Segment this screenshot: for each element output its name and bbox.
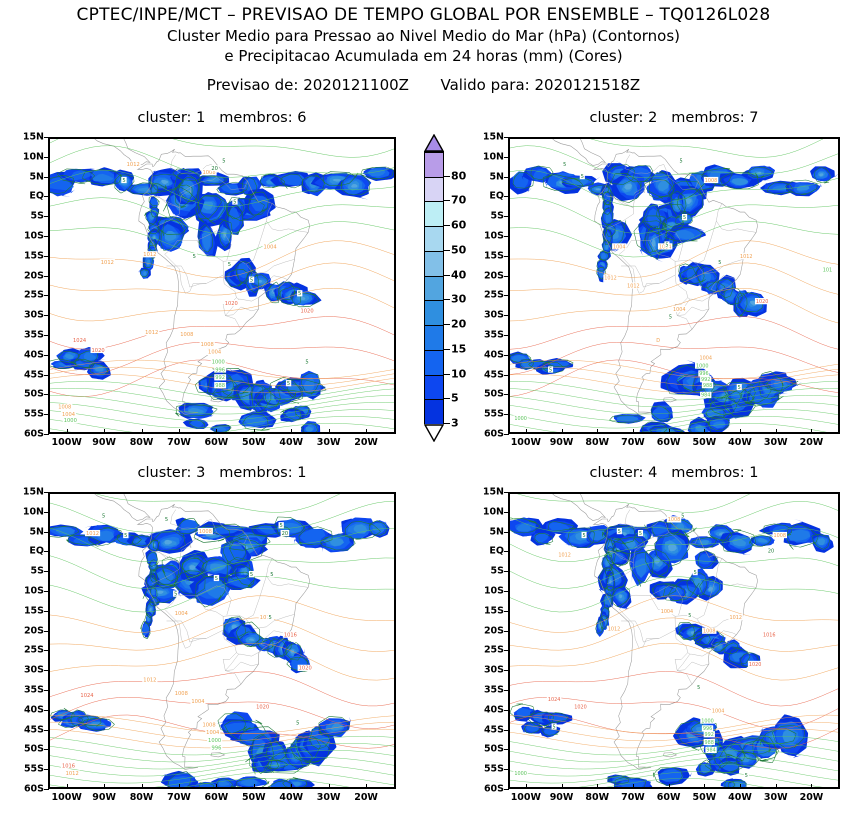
y-axis-tick [44, 355, 49, 356]
precip-label: 5 [122, 178, 125, 184]
precip-label: 5 [549, 367, 552, 373]
y-axis-tick [44, 375, 49, 376]
y-axis-label: 5S [460, 566, 504, 577]
x-axis-label: 70W [167, 437, 191, 448]
precip-label: 5 [665, 242, 668, 248]
y-axis-label: 10S [0, 231, 44, 242]
precip-label: 5 [270, 572, 273, 578]
y-axis-tick [44, 670, 49, 671]
y-axis-tick [44, 650, 49, 651]
y-axis-tick [504, 335, 509, 336]
mslp-label: 1020 [756, 299, 769, 305]
y-axis-tick [504, 196, 509, 197]
y-axis-tick [44, 256, 49, 257]
y-axis-label: EQ [0, 191, 44, 202]
x-axis-label: 100W [511, 792, 541, 803]
x-axis-tick [526, 429, 527, 434]
mslp-label: 1004 [175, 611, 189, 617]
colorbar-cell [424, 177, 444, 202]
y-axis-label: 15N [0, 487, 44, 498]
members-label: membros: [671, 110, 744, 126]
mslp-label: 1016 [284, 632, 298, 638]
mslp-label: 1020 [574, 705, 587, 711]
x-axis-tick [633, 784, 634, 789]
colorbar-tick-label: 5 [451, 392, 459, 405]
x-axis-tick [291, 784, 292, 789]
y-axis-tick [504, 375, 509, 376]
x-axis-label: 100W [511, 437, 541, 448]
cluster-label: cluster: [138, 110, 192, 126]
y-axis-tick [504, 177, 509, 178]
mslp-label: 1008 [705, 178, 718, 184]
colorbar-tick-label: 3 [451, 417, 459, 430]
mslp-label: 996 [212, 746, 222, 752]
x-axis-tick [704, 784, 705, 789]
colorbar-tick [444, 176, 450, 177]
y-axis-tick [44, 414, 49, 415]
mslp-label: 1020 [256, 705, 270, 711]
colorbar-cell [424, 226, 444, 251]
y-axis-tick [504, 769, 509, 770]
y-axis-tick [44, 730, 49, 731]
y-axis-label: 60S [460, 784, 504, 795]
y-axis-label: 60S [0, 429, 44, 440]
members-number: 1 [749, 465, 758, 481]
y-axis-tick [44, 295, 49, 296]
x-axis-label: 90W [550, 437, 574, 448]
mslp-label: 1020 [301, 309, 315, 315]
y-axis-label: 45S [0, 724, 44, 735]
mslp-label: 1008 [203, 722, 217, 728]
x-axis-tick [216, 784, 217, 789]
mslp-label: 1008 [180, 332, 194, 338]
colorbar-tick [444, 349, 450, 350]
y-axis-label: 20S [0, 625, 44, 636]
cluster-label: cluster: [590, 110, 644, 126]
x-axis-label: 20W [354, 437, 378, 448]
mslp-label: 1012 [66, 771, 79, 777]
colorbar-extend-low [424, 424, 444, 442]
y-axis-label: 25S [0, 290, 44, 301]
y-axis-tick [44, 512, 49, 513]
x-axis-tick [811, 429, 812, 434]
mslp-label: 988 [703, 383, 712, 389]
panel-cluster-1: cluster: 1membros: 610121008100410121012… [0, 110, 396, 460]
x-axis-label: 60W [205, 792, 229, 803]
y-axis-tick [44, 276, 49, 277]
y-axis-tick [504, 551, 509, 552]
x-axis-label: 90W [92, 792, 116, 803]
x-axis-tick [704, 429, 705, 434]
y-axis-tick [504, 710, 509, 711]
members-label: membros: [671, 465, 744, 481]
y-axis-tick [44, 315, 49, 316]
x-axis-tick [216, 429, 217, 434]
y-axis-label: 5N [0, 526, 44, 537]
members-number: 1 [297, 465, 306, 481]
precip-label: 5 [228, 262, 231, 268]
y-axis-tick [504, 730, 509, 731]
precip-label: 5 [738, 385, 741, 391]
x-axis-tick [526, 784, 527, 789]
y-axis-tick [504, 650, 509, 651]
y-axis-label: 15S [460, 605, 504, 616]
mslp-label: 1004 [264, 244, 278, 250]
x-axis-label: 100W [52, 437, 82, 448]
x-axis-tick [67, 429, 68, 434]
precip-label: 5 [268, 615, 271, 621]
mslp-label: 988 [215, 383, 225, 389]
x-axis-label: 100W [52, 792, 82, 803]
x-axis-label: 50W [692, 437, 716, 448]
y-axis-tick [504, 670, 509, 671]
y-axis-label: 40S [460, 704, 504, 715]
colorbar-cell [424, 399, 444, 424]
mslp-label: 1020 [225, 301, 239, 307]
colorbar-cell [424, 201, 444, 226]
precip-label: 5 [618, 529, 621, 535]
x-axis-tick [776, 429, 777, 434]
mslp-label: 1012 [627, 283, 640, 289]
y-axis-tick [504, 355, 509, 356]
mslp-label: 1000 [701, 718, 714, 724]
y-axis-label: 15N [0, 132, 44, 143]
x-axis-label: 30W [317, 792, 341, 803]
mslp-label: 101 [823, 267, 832, 273]
x-axis-tick [142, 429, 143, 434]
cluster-label: cluster: [138, 465, 192, 481]
cluster-label: cluster: [590, 465, 644, 481]
precip-label: 20 [282, 531, 289, 537]
y-axis-tick [504, 690, 509, 691]
x-axis-tick [179, 429, 180, 434]
y-axis-label: EQ [460, 546, 504, 557]
x-axis-tick [562, 784, 563, 789]
precip-label: 5 [193, 254, 196, 260]
x-axis-tick [366, 429, 367, 434]
panel-title-1: cluster: 1membros: 6 [48, 110, 396, 126]
cluster-number: 1 [196, 110, 205, 126]
x-axis-tick [366, 784, 367, 789]
colorbar-cell [424, 350, 444, 375]
x-axis-label: 40W [279, 792, 303, 803]
y-axis-label: 20S [0, 270, 44, 281]
y-axis-label: 50S [0, 389, 44, 400]
mslp-label: 1004 [661, 609, 674, 615]
x-axis-label: 30W [764, 437, 788, 448]
mslp-label: 1012 [143, 252, 156, 258]
colorbar-tick-label: 60 [451, 219, 466, 232]
precip-label: 5 [250, 572, 253, 578]
precip-label: 5 [683, 215, 686, 221]
mslp-label: 1000 [514, 416, 527, 422]
colorbar-cell [424, 300, 444, 325]
y-axis-label: 5S [0, 211, 44, 222]
precip-label: 5 [718, 260, 721, 266]
x-axis-tick [597, 429, 598, 434]
y-axis-label: 50S [0, 744, 44, 755]
colorbar-cell [424, 375, 444, 400]
precip-label: 5 [745, 773, 748, 779]
mslp-label: 1008 [668, 517, 681, 523]
map-plot-area-1[interactable]: 1012100810041012101210201024101210081008… [48, 137, 396, 434]
y-axis-tick [44, 631, 49, 632]
mslp-label: 1016 [763, 632, 776, 638]
y-axis-label: 30S [0, 310, 44, 321]
precip-label: 5 [679, 158, 682, 164]
x-axis-label: 60W [657, 792, 681, 803]
x-axis-tick [740, 784, 741, 789]
map-plot-area-3[interactable]: 1012100810041012101610201024101210081004… [48, 492, 396, 789]
colorbar-extend-high [424, 134, 444, 152]
mslp-label: 1004 [206, 730, 220, 736]
y-axis-tick [504, 789, 509, 790]
mslp-label: 1004 [712, 708, 725, 714]
y-axis-tick [44, 591, 49, 592]
precip-label: 5 [688, 613, 691, 619]
y-axis-tick [504, 216, 509, 217]
mslp-label: 984 [706, 748, 716, 754]
y-axis-tick [504, 571, 509, 572]
precip-label: 5 [582, 533, 585, 539]
mslp-label: D [656, 338, 660, 344]
panel-cluster-4: cluster: 4membros: 110081008101210041012… [460, 465, 840, 815]
colorbar-tick [444, 299, 450, 300]
y-axis-tick [44, 177, 49, 178]
mslp-label: 992 [215, 375, 225, 381]
y-axis-tick [504, 749, 509, 750]
precip-label: 5 [553, 724, 556, 730]
x-axis-label: 20W [354, 792, 378, 803]
mslp-label: 1000 [212, 359, 226, 365]
y-axis-label: 5N [0, 171, 44, 182]
mslp-label: 1000 [696, 363, 709, 369]
x-axis-label: 90W [92, 437, 116, 448]
y-axis-label: 35S [0, 330, 44, 341]
mslp-label: 1024 [80, 693, 94, 699]
y-axis-tick [44, 216, 49, 217]
y-axis-tick [44, 434, 49, 435]
y-axis-label: 55S [0, 764, 44, 775]
colorbar-cell [424, 276, 444, 301]
precip-label: 5 [681, 513, 684, 519]
y-axis-tick [44, 749, 49, 750]
colorbar-tick [444, 250, 450, 251]
y-axis-tick [44, 137, 49, 138]
x-axis-tick [597, 784, 598, 789]
precip-label: 20 [768, 548, 774, 554]
precip-label: 5 [233, 199, 236, 205]
precip-label: 5 [222, 158, 225, 164]
mslp-label: 1004 [673, 307, 686, 313]
precip-label: 5 [174, 591, 177, 597]
mslp-label: 996 [215, 367, 225, 373]
y-axis-label: 5N [460, 526, 504, 537]
y-axis-tick [504, 492, 509, 493]
members-number: 6 [297, 110, 306, 126]
panel-cluster-2: cluster: 2membros: 710081004100410121012… [460, 110, 840, 460]
members-number: 7 [749, 110, 758, 126]
y-axis-tick [504, 611, 509, 612]
y-axis-tick [44, 690, 49, 691]
y-axis-label: 10N [0, 151, 44, 162]
mslp-label: 1008 [58, 404, 72, 410]
x-axis-label: 40W [728, 437, 752, 448]
x-axis-label: 50W [692, 792, 716, 803]
precip-label: 5 [102, 513, 105, 519]
y-axis-label: 35S [0, 685, 44, 696]
mslp-label: 1012 [145, 330, 158, 336]
y-axis-label: 55S [460, 764, 504, 775]
mslp-label: 1020 [749, 662, 762, 668]
colorbar-tick [444, 374, 450, 375]
colorbar: 35101520304050607080 [424, 134, 484, 442]
y-axis-label: 45S [0, 369, 44, 380]
mslp-label: 1024 [73, 338, 87, 344]
y-axis-tick [504, 394, 509, 395]
precip-label: 5 [697, 685, 700, 691]
colorbar-tick [444, 324, 450, 325]
y-axis-tick [504, 414, 509, 415]
mslp-label: 1016 [62, 763, 76, 769]
precip-label: 5 [250, 277, 253, 283]
x-axis-label: 60W [205, 437, 229, 448]
mslp-label: 1004 [208, 350, 222, 356]
x-axis-tick [104, 429, 105, 434]
mslp-label: 1008 [199, 529, 213, 535]
mslp-label: 1008 [175, 691, 189, 697]
y-axis-label: 5S [0, 566, 44, 577]
y-axis-label: 15N [460, 487, 504, 498]
y-axis-label: 45S [460, 724, 504, 735]
precip-label: 5 [669, 314, 672, 320]
x-axis-tick [142, 784, 143, 789]
y-axis-tick [504, 315, 509, 316]
x-axis-tick [740, 429, 741, 434]
colorbar-cell [424, 152, 444, 177]
y-axis-label: 30S [0, 665, 44, 676]
y-axis-tick [44, 571, 49, 572]
precip-label: 5 [296, 720, 299, 726]
y-axis-tick [44, 394, 49, 395]
y-axis-tick [504, 157, 509, 158]
members-label: membros: [219, 465, 292, 481]
mslp-label: 1008 [201, 342, 215, 348]
mslp-label: 1004 [191, 699, 205, 705]
y-axis-label: 40S [0, 704, 44, 715]
x-axis-label: 80W [585, 437, 609, 448]
mslp-label: 1012 [127, 162, 140, 168]
colorbar-tick-label: 10 [451, 367, 466, 380]
precip-label: 5 [563, 162, 566, 168]
x-axis-tick [104, 784, 105, 789]
x-axis-tick [776, 784, 777, 789]
y-axis-tick [504, 532, 509, 533]
precip-label: 5 [215, 576, 218, 582]
mslp-label: 1012 [558, 552, 571, 558]
y-axis-tick [44, 710, 49, 711]
x-axis-label: 50W [242, 792, 266, 803]
y-axis-tick [504, 631, 509, 632]
x-axis-tick [669, 784, 670, 789]
colorbar-divider [424, 151, 444, 153]
x-axis-tick [291, 429, 292, 434]
y-axis-label: 25S [460, 645, 504, 656]
colorbar-tick [444, 398, 450, 399]
cluster-number: 4 [648, 465, 657, 481]
map-plot-area-4[interactable]: 1008100810121004101210121008101610201024… [508, 492, 840, 789]
y-axis-tick [44, 196, 49, 197]
y-axis-tick [44, 789, 49, 790]
x-axis-label: 20W [800, 437, 824, 448]
mslp-label: 1012 [101, 260, 114, 266]
x-axis-tick [562, 429, 563, 434]
mslp-label: 1008 [703, 628, 716, 634]
mslp-label: 1020 [299, 666, 313, 672]
mslp-label: 1000 [208, 738, 222, 744]
colorbar-cell [424, 325, 444, 350]
colorbar-tick-label: 15 [451, 342, 466, 355]
x-axis-label: 80W [130, 792, 154, 803]
y-axis-tick [44, 769, 49, 770]
precip-label: 5 [280, 523, 283, 529]
mslp-label: 988 [705, 740, 714, 746]
mslp-label: 1012 [729, 615, 742, 621]
panel-title-4: cluster: 4membros: 1 [508, 465, 840, 481]
members-label: membros: [219, 110, 292, 126]
y-axis-label: 10N [460, 506, 504, 517]
map-plot-area-2[interactable]: 1008100410041012101210110121020100410041… [508, 137, 840, 434]
colorbar-cell [424, 251, 444, 276]
colorbar-tick-label: 40 [451, 268, 466, 281]
y-axis-tick [504, 276, 509, 277]
y-axis-tick [504, 236, 509, 237]
y-axis-label: 20S [460, 625, 504, 636]
x-axis-label: 70W [621, 792, 645, 803]
precip-label: 5 [639, 531, 642, 537]
y-axis-tick [504, 295, 509, 296]
x-axis-tick [179, 784, 180, 789]
y-axis-tick [44, 492, 49, 493]
mslp-label: 1008 [774, 533, 787, 539]
mslp-label: 1024 [548, 697, 561, 703]
colorbar-tick-label: 20 [451, 318, 466, 331]
figure-panels: cluster: 1membros: 610121008100410121012… [0, 0, 847, 803]
x-axis-tick [811, 784, 812, 789]
y-axis-label: EQ [0, 546, 44, 557]
colorbar-tick-label: 50 [451, 243, 466, 256]
x-axis-label: 80W [585, 792, 609, 803]
x-axis-tick [633, 429, 634, 434]
cluster-number: 3 [196, 465, 205, 481]
y-axis-tick [504, 512, 509, 513]
x-axis-label: 80W [130, 437, 154, 448]
y-axis-tick [44, 532, 49, 533]
mslp-label: 1004 [613, 244, 626, 250]
colorbar-tick [444, 225, 450, 226]
y-axis-label: 15S [0, 250, 44, 261]
y-axis-label: 25S [0, 645, 44, 656]
colorbar-tick-label: 30 [451, 293, 466, 306]
y-axis-label: 30S [460, 665, 504, 676]
x-axis-tick [669, 429, 670, 434]
x-axis-tick [329, 784, 330, 789]
mslp-label: 1020 [92, 348, 106, 354]
x-axis-label: 40W [728, 792, 752, 803]
precip-label: 5 [165, 517, 168, 523]
y-axis-tick [44, 335, 49, 336]
colorbar-tick-label: 70 [451, 194, 466, 207]
